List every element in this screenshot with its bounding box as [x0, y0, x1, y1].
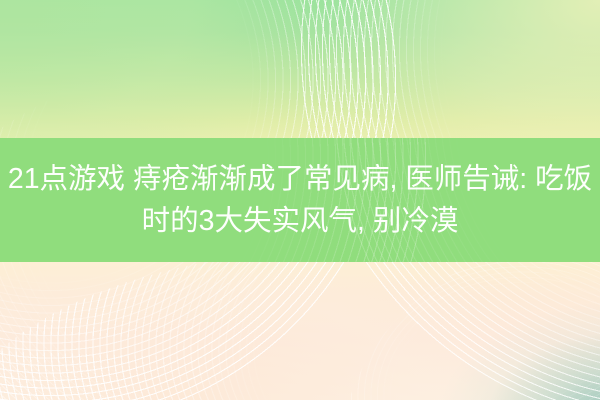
title-text-line-1: 21点游戏 痔疮渐渐成了常见病, 医师告诫: 吃饭 [8, 158, 592, 200]
title-band: 21点游戏 痔疮渐渐成了常见病, 医师告诫: 吃饭 时的3大失实风气, 别冷漠 [0, 138, 600, 262]
title-text-line-2: 时的3大失实风气, 别冷漠 [142, 200, 459, 242]
title-banner: 21点游戏 痔疮渐渐成了常见病, 医师告诫: 吃饭 时的3大失实风气, 别冷漠 [0, 0, 600, 400]
